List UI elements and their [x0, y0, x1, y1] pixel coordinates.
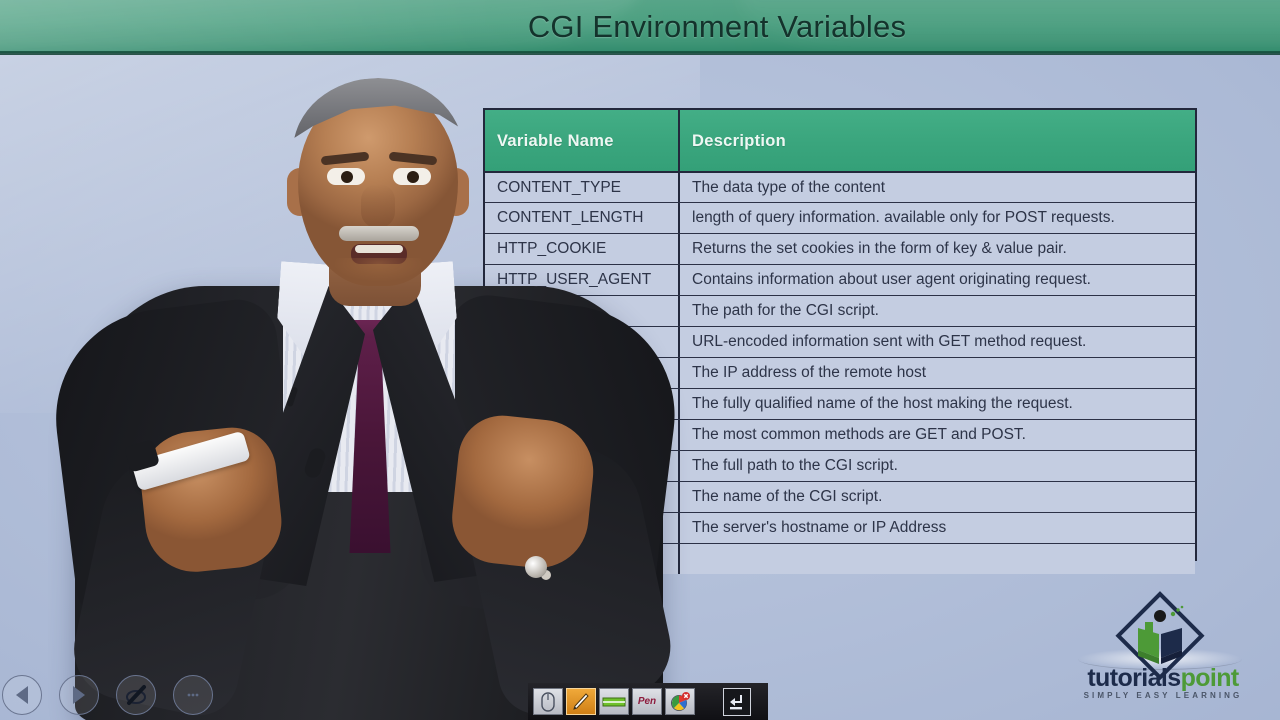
table-row: CONTENT_LENGTH length of query informati…: [485, 202, 1195, 233]
column-header-variable-name: Variable Name: [485, 110, 680, 171]
triangle-right-icon: [73, 686, 85, 704]
cgi-environment-variables-table: Variable Name Description CONTENT_TYPE T…: [483, 108, 1197, 561]
cell-description: Returns the set cookies in the form of k…: [680, 234, 1195, 264]
pen-tool-icon: [571, 692, 591, 712]
cell-description: The most common methods are GET and POST…: [680, 420, 1195, 450]
return-arrow-icon: [727, 692, 747, 712]
color-palette-button[interactable]: [665, 688, 695, 715]
cell-variable-name: SCRIPT_FILENAME: [485, 451, 680, 481]
table-row: PATH_INFO The path for the CGI script.: [485, 295, 1195, 326]
text-tool-button[interactable]: Pen: [632, 688, 662, 715]
exit-annotation-toolbar: [706, 683, 768, 720]
logo-word-primary: tutorials: [1087, 664, 1180, 692]
cell-description: The full path to the CGI script.: [680, 451, 1195, 481]
cell-variable-name: QUERY_STRING: [485, 327, 680, 357]
table-row: QUERY_STRING URL-encoded information sen…: [485, 326, 1195, 357]
table-row: REQUEST_METHOD The most common methods a…: [485, 419, 1195, 450]
video-stage: Variable Name Description CONTENT_TYPE T…: [0, 0, 1280, 720]
cell-variable-name: REMOTE_HOST: [485, 389, 680, 419]
cell-variable-name: [485, 544, 680, 574]
cell-variable-name: REMOTE_ADDR: [485, 358, 680, 388]
table-row: SCRIPT_FILENAME The full path to the CGI…: [485, 450, 1195, 481]
cell-variable-name: CONTENT_LENGTH: [485, 203, 680, 233]
annotate-button[interactable]: [116, 675, 156, 715]
cell-description: URL-encoded information sent with GET me…: [680, 327, 1195, 357]
highlighter-tool-button[interactable]: [599, 688, 629, 715]
highlighter-icon: [602, 695, 626, 709]
cell-description: The server's hostname or IP Address: [680, 513, 1195, 543]
cell-description: The path for the CGI script.: [680, 296, 1195, 326]
mouse-icon: [540, 692, 556, 712]
cell-variable-name: PATH_INFO: [485, 296, 680, 326]
cell-variable-name: SERVER_NAME: [485, 513, 680, 543]
cell-variable-name: SCRIPT_NAME: [485, 482, 680, 512]
table-row: SERVER_NAME The server's hostname or IP …: [485, 512, 1195, 543]
table-row: [485, 543, 1195, 574]
table-row: CONTENT_TYPE The data type of the conten…: [485, 171, 1195, 202]
logo-word-secondary: point: [1181, 664, 1239, 692]
cell-description: The IP address of the remote host: [680, 358, 1195, 388]
page-title: CGI Environment Variables: [77, 2, 1280, 51]
table-row: HTTP_COOKIE Returns the set cookies in t…: [485, 233, 1195, 264]
previous-slide-button[interactable]: [2, 675, 42, 715]
table-row: REMOTE_ADDR The IP address of the remote…: [485, 357, 1195, 388]
logo-wordmark: tutorialspoint: [1060, 666, 1266, 691]
table-row: SCRIPT_NAME The name of the CGI script.: [485, 481, 1195, 512]
cell-variable-name: CONTENT_TYPE: [485, 173, 680, 202]
cell-variable-name: HTTP_USER_AGENT: [485, 265, 680, 295]
pen-icon: [123, 682, 149, 708]
cell-description: The fully qualified name of the host mak…: [680, 389, 1195, 419]
table-header-row: Variable Name Description: [485, 110, 1195, 171]
cell-variable-name: HTTP_COOKIE: [485, 234, 680, 264]
text-tool-label: Pen: [638, 696, 656, 707]
logo-tagline: SIMPLY EASY LEARNING: [1060, 691, 1266, 700]
next-slide-button[interactable]: [59, 675, 99, 715]
cell-description: length of query information. available o…: [680, 203, 1195, 233]
more-options-button[interactable]: [173, 675, 213, 715]
cell-description: The data type of the content: [680, 173, 1195, 202]
annotation-toolbar: Pen: [528, 683, 706, 720]
table-row: HTTP_USER_AGENT Contains information abo…: [485, 264, 1195, 295]
table-row: REMOTE_HOST The fully qualified name of …: [485, 388, 1195, 419]
triangle-left-icon: [16, 686, 28, 704]
pointer-tool-button[interactable]: [533, 688, 563, 715]
cell-description: [680, 544, 1195, 574]
column-header-description: Description: [680, 110, 1195, 171]
exit-annotation-button[interactable]: [723, 688, 751, 716]
banner-underline: [0, 51, 1280, 55]
tutorialspoint-logo: tutorialspoint SIMPLY EASY LEARNING: [1060, 588, 1266, 704]
cell-description: Contains information about user agent or…: [680, 265, 1195, 295]
cell-description: The name of the CGI script.: [680, 482, 1195, 512]
dots-icon: [183, 685, 203, 705]
pen-tool-button[interactable]: [566, 688, 596, 715]
palette-icon: [669, 691, 691, 713]
cell-variable-name: REQUEST_METHOD: [485, 420, 680, 450]
